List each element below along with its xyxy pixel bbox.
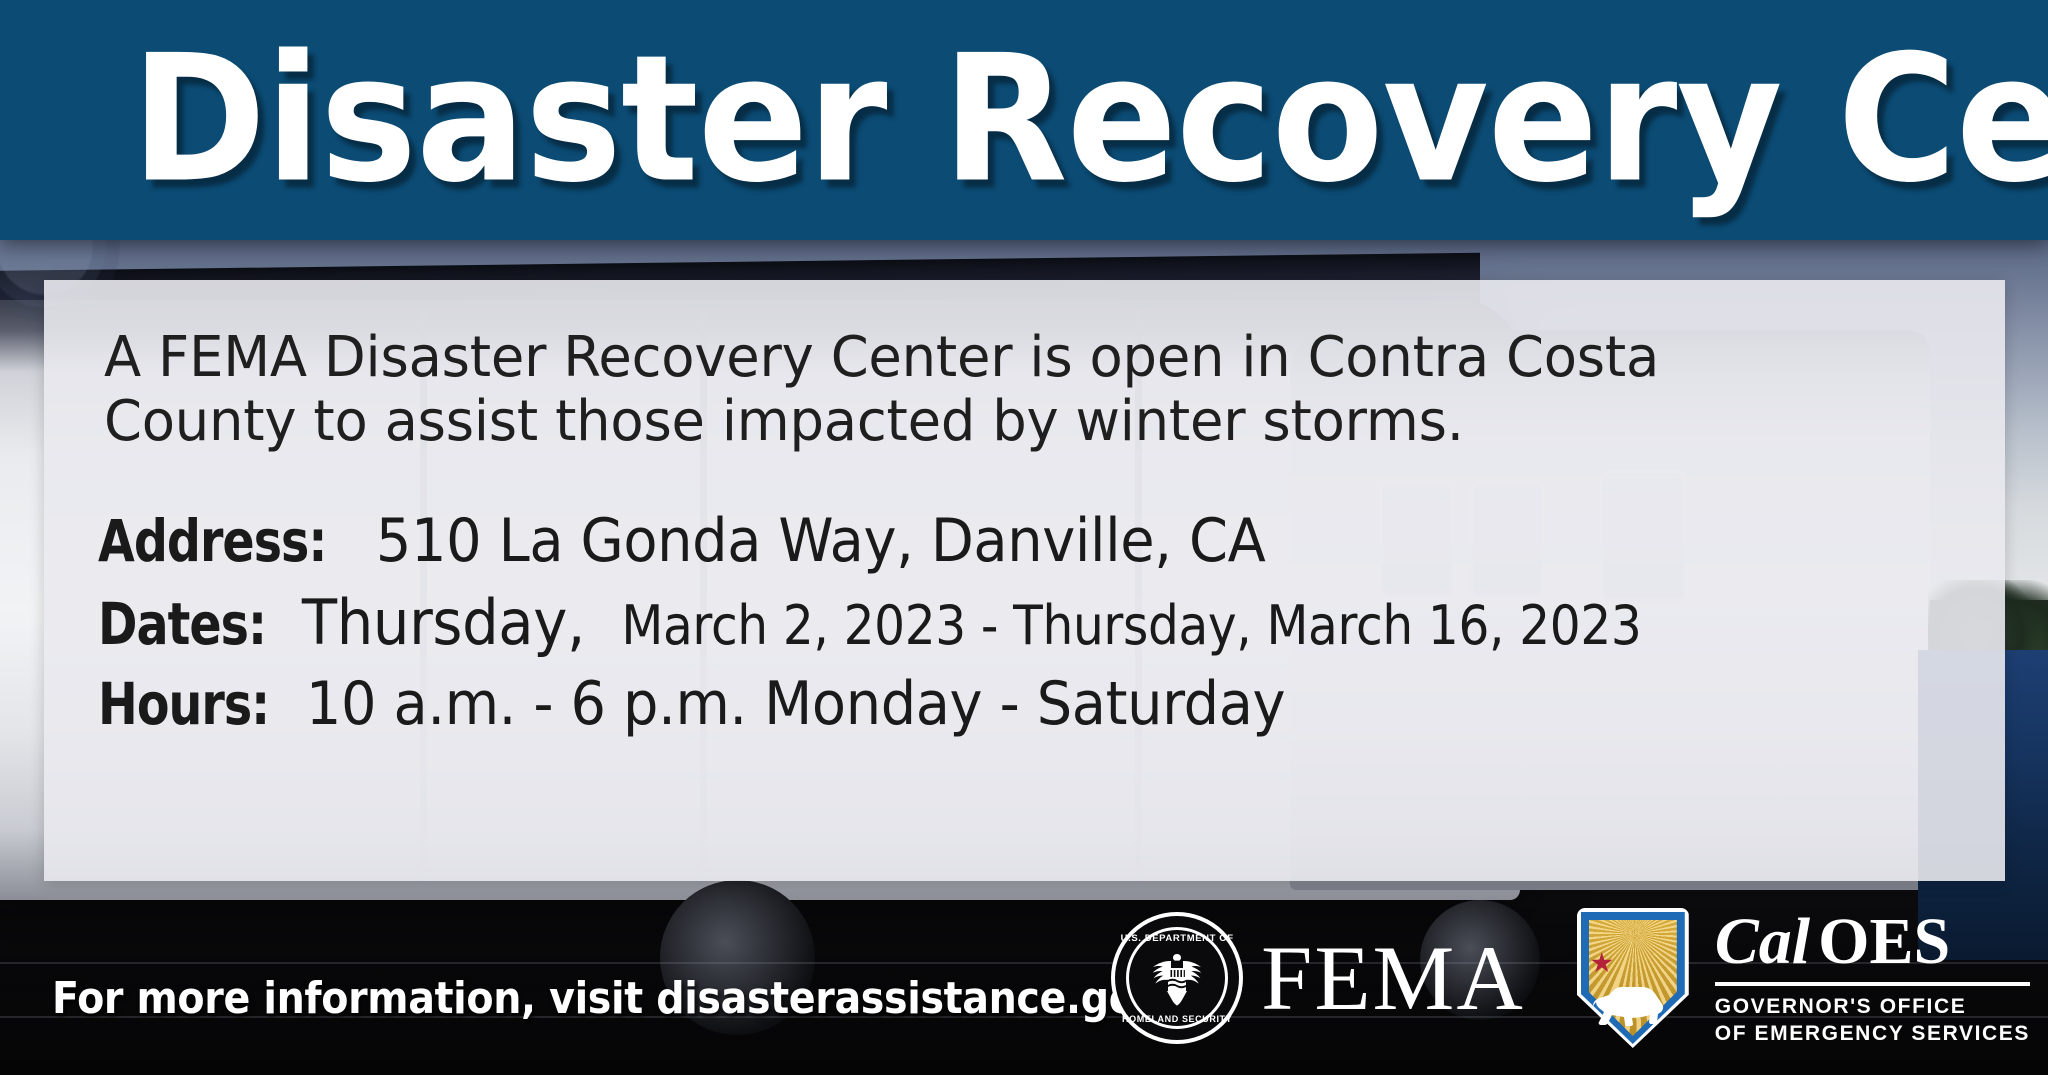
cal-oes-logo: CalOES GOVERNOR'S OFFICE OF EMERGENCY SE…	[1577, 908, 2030, 1048]
content-card: A FEMA Disaster Recovery Center is open …	[44, 280, 2005, 881]
cal-oes-shield-icon	[1577, 908, 1689, 1048]
page-title-text: Disaster Recovery Center	[131, 33, 2048, 208]
cal-oes-wordmark-cal: Cal	[1715, 905, 1810, 978]
dhs-eagle-icon	[1140, 948, 1214, 1008]
address-value: 510 La Gonda Way, Danville, CA	[361, 506, 1265, 576]
detail-row-dates: Dates: Thursday, March 2, 2023 - Thursda…	[98, 586, 1978, 659]
cal-oes-divider	[1715, 982, 2030, 986]
cal-oes-subtitle-line-1: GOVERNOR'S OFFICE	[1715, 994, 2030, 1021]
california-bear-icon	[1589, 980, 1677, 1026]
logo-group: U.S. DEPARTMENT OF HOMELAND SECURITY	[1111, 881, 2030, 1075]
more-information-label: For more information, visit disasterassi…	[52, 973, 1161, 1024]
fema-wordmark: FEMA	[1261, 932, 1525, 1024]
intro-paragraph: A FEMA Disaster Recovery Center is open …	[104, 326, 1864, 454]
more-information-text: For more information, visit disasterassi…	[52, 973, 1284, 1024]
detail-row-address: Address: 510 La Gonda Way, Danville, CA	[98, 506, 1978, 576]
hours-label: Hours:	[98, 670, 269, 738]
footer-bar: For more information, visit disasterassi…	[0, 881, 2048, 1075]
dates-label: Dates:	[98, 590, 266, 658]
hours-value: 10 a.m. - 6 p.m. Monday - Saturday	[291, 669, 1285, 739]
detail-list: Address: 510 La Gonda Way, Danville, CA …	[98, 506, 1978, 749]
cal-oes-wordmark-oes: OES	[1818, 905, 1950, 978]
detail-row-hours: Hours: 10 a.m. - 6 p.m. Monday - Saturda…	[98, 669, 1978, 739]
cal-oes-text-block: CalOES GOVERNOR'S OFFICE OF EMERGENCY SE…	[1715, 909, 2030, 1048]
cal-oes-subtitle-line-2: OF EMERGENCY SERVICES	[1715, 1021, 2030, 1048]
header-banner: Disaster Recovery Center	[0, 0, 2048, 240]
dhs-seal-bottom-text: HOMELAND SECURITY	[1115, 1014, 1239, 1024]
dhs-seal-icon: U.S. DEPARTMENT OF HOMELAND SECURITY	[1111, 912, 1243, 1044]
cal-oes-subtitle: GOVERNOR'S OFFICE OF EMERGENCY SERVICES	[1715, 994, 2030, 1048]
intro-line-2: County to assist those impacted by winte…	[104, 390, 1464, 454]
dates-value-range: March 2, 2023 - Thursday, March 16, 2023	[607, 594, 1641, 657]
disaster-recovery-center-flyer: Disaster Recovery Center A FEMA Disaster…	[0, 0, 2048, 1075]
address-label: Address:	[98, 507, 326, 575]
dhs-seal-top-text: U.S. DEPARTMENT OF	[1115, 933, 1239, 944]
cal-oes-wordmark: CalOES	[1715, 909, 2030, 975]
dates-value-day: Thursday,	[287, 586, 585, 659]
page-title: Disaster Recovery Center	[44, 33, 2004, 208]
intro-line-1: A FEMA Disaster Recovery Center is open …	[104, 326, 1659, 390]
